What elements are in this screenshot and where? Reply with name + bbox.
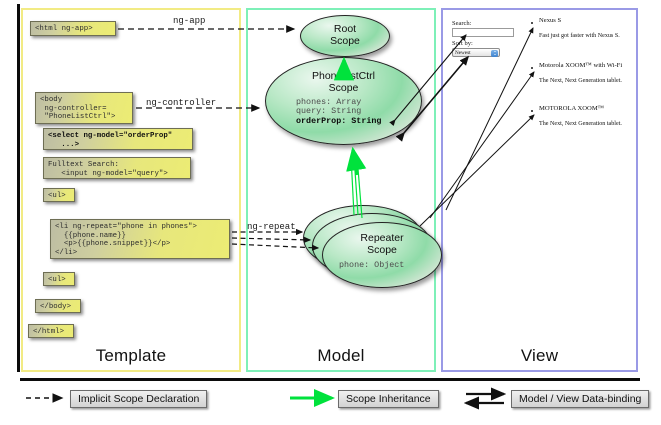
code-box-html-close: </html>	[28, 324, 74, 338]
code-box-li-repeat: <li ng-repeat="phone in phones"> {{phone…	[50, 219, 230, 259]
scope-root-title-line1: Root	[334, 23, 356, 35]
list-item-snippet: Fast just got faster with Nexus S.	[539, 33, 620, 39]
scope-prop-orderprop: orderProp: String	[296, 117, 421, 126]
scope-phonelistctrl-title-line1: PhoneListCtrl	[312, 70, 375, 82]
chevron-updown-icon	[491, 50, 498, 58]
code-box-body-close: </body>	[35, 299, 81, 313]
list-item-snippet: The Next, Next Generation tablet.	[539, 121, 622, 127]
code-box-ul-open: <ul>	[43, 188, 75, 202]
code-box-body-tag: <body ng-controller= "PhoneListCtrl">	[35, 92, 133, 124]
sort-by-selected-value: Newest	[455, 50, 471, 56]
phone-name: MOTOROLA XOOM™	[539, 105, 604, 112]
scope-repeater: Repeater Scope phone: Object	[322, 222, 442, 288]
scope-root-title-line2: Scope	[330, 35, 360, 47]
code-box-select-tag: <select ng-model="orderProp" ...>	[43, 128, 193, 150]
code-box-html-tag: <html ng-app>	[30, 21, 116, 36]
panel-title-template: Template	[23, 346, 239, 366]
edge-label-ng-repeat: ng-repeat	[247, 222, 296, 232]
edge-label-ng-app: ng-app	[173, 16, 205, 26]
code-box-ul-close: <ul>	[43, 272, 75, 286]
code-box-input-search: Fulltext Search: <input ng-model="query"…	[43, 157, 191, 179]
scope-prop-phone: phone: Object	[339, 261, 441, 270]
scope-repeater-title-line2: Scope	[367, 244, 397, 256]
search-label: Search:	[452, 20, 472, 27]
left-rail-divider	[17, 4, 20, 372]
legend-label-model-view-data-binding: Model / View Data-binding	[511, 390, 649, 408]
search-input[interactable]	[452, 28, 514, 37]
list-item: MOTOROLA XOOM™	[539, 105, 604, 112]
scope-phonelistctrl: PhoneListCtrl Scope phones: Array query:…	[265, 57, 422, 145]
list-item-snippet: The Next, Next Generation tablet.	[539, 78, 622, 84]
phone-snippet: The Next, Next Generation tablet.	[539, 78, 622, 84]
scope-root: Root Scope	[300, 15, 390, 57]
phone-snippet: The Next, Next Generation tablet.	[539, 121, 622, 127]
panel-title-view: View	[443, 346, 636, 366]
phone-snippet: Fast just got faster with Nexus S.	[539, 33, 620, 39]
edge-label-ng-controller: ng-controller	[146, 98, 216, 108]
phone-name: Motorola XOOM™ with Wi-Fi	[539, 62, 622, 69]
phone-name: Nexus S	[539, 17, 561, 24]
legend-separator-rule	[20, 378, 640, 381]
list-item: Nexus S	[539, 17, 561, 24]
legend-label-scope-inheritance: Scope Inheritance	[338, 390, 439, 408]
list-item: Motorola XOOM™ with Wi-Fi	[539, 62, 622, 69]
legend-label-implicit-scope-declaration: Implicit Scope Declaration	[70, 390, 207, 408]
scope-repeater-title-line1: Repeater	[360, 232, 403, 244]
diagram-canvas: Template Model View <html ng-app> <body …	[0, 0, 661, 425]
sort-by-select[interactable]: Newest	[452, 48, 500, 57]
sort-by-label: Sort by:	[452, 40, 473, 47]
panel-title-model: Model	[248, 346, 434, 366]
scope-phonelistctrl-title-line2: Scope	[329, 82, 359, 94]
